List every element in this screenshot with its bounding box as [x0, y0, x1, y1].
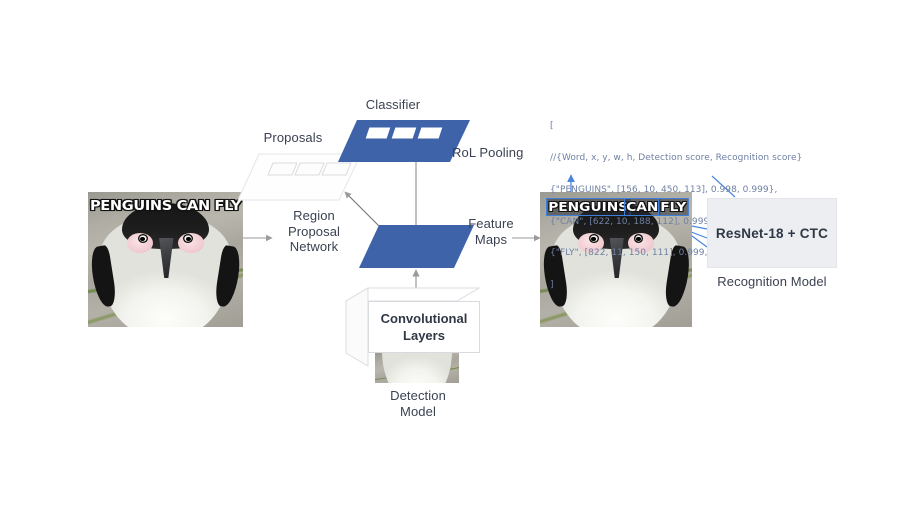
input-image: PENGUINS CAN FLY	[88, 192, 243, 327]
resnet-ctc-box: ResNet-18 + CTC	[707, 198, 837, 268]
json-line-penguins: {"PENGUINS", [156, 10, 450, 113], 0.998,…	[550, 185, 800, 196]
roi-pooling-label: RoL Pooling	[452, 145, 542, 161]
conv-layers-box: Convolutional Layers	[368, 301, 480, 353]
detection-model-label: Detection Model	[382, 388, 454, 419]
json-line-schema: //{Word, x, y, w, h, Detection score, Re…	[550, 153, 800, 164]
proposals-label: Proposals	[248, 130, 338, 146]
feature-maps-svg	[358, 223, 476, 271]
input-image-caption: PENGUINS CAN FLY	[88, 199, 243, 214]
feature-maps-label: Feature Maps	[460, 216, 522, 247]
region-proposal-network-label: Region Proposal Network	[278, 208, 350, 255]
penguin-eye-left	[138, 234, 148, 243]
conv-input-thumbnail	[375, 353, 459, 383]
conv-layers-label: Convolutional Layers	[381, 310, 468, 344]
diagram-canvas: PENGUINS CAN FLY PENGUINS CAN FLY Propos…	[0, 0, 916, 515]
resnet-ctc-label: ResNet-18 + CTC	[716, 226, 828, 241]
penguin-body	[382, 353, 453, 383]
json-line-open: [	[550, 121, 800, 132]
recognition-model-label: Recognition Model	[707, 274, 837, 290]
feature-maps-shape	[358, 223, 476, 271]
classifier-label: Classifier	[348, 97, 438, 113]
